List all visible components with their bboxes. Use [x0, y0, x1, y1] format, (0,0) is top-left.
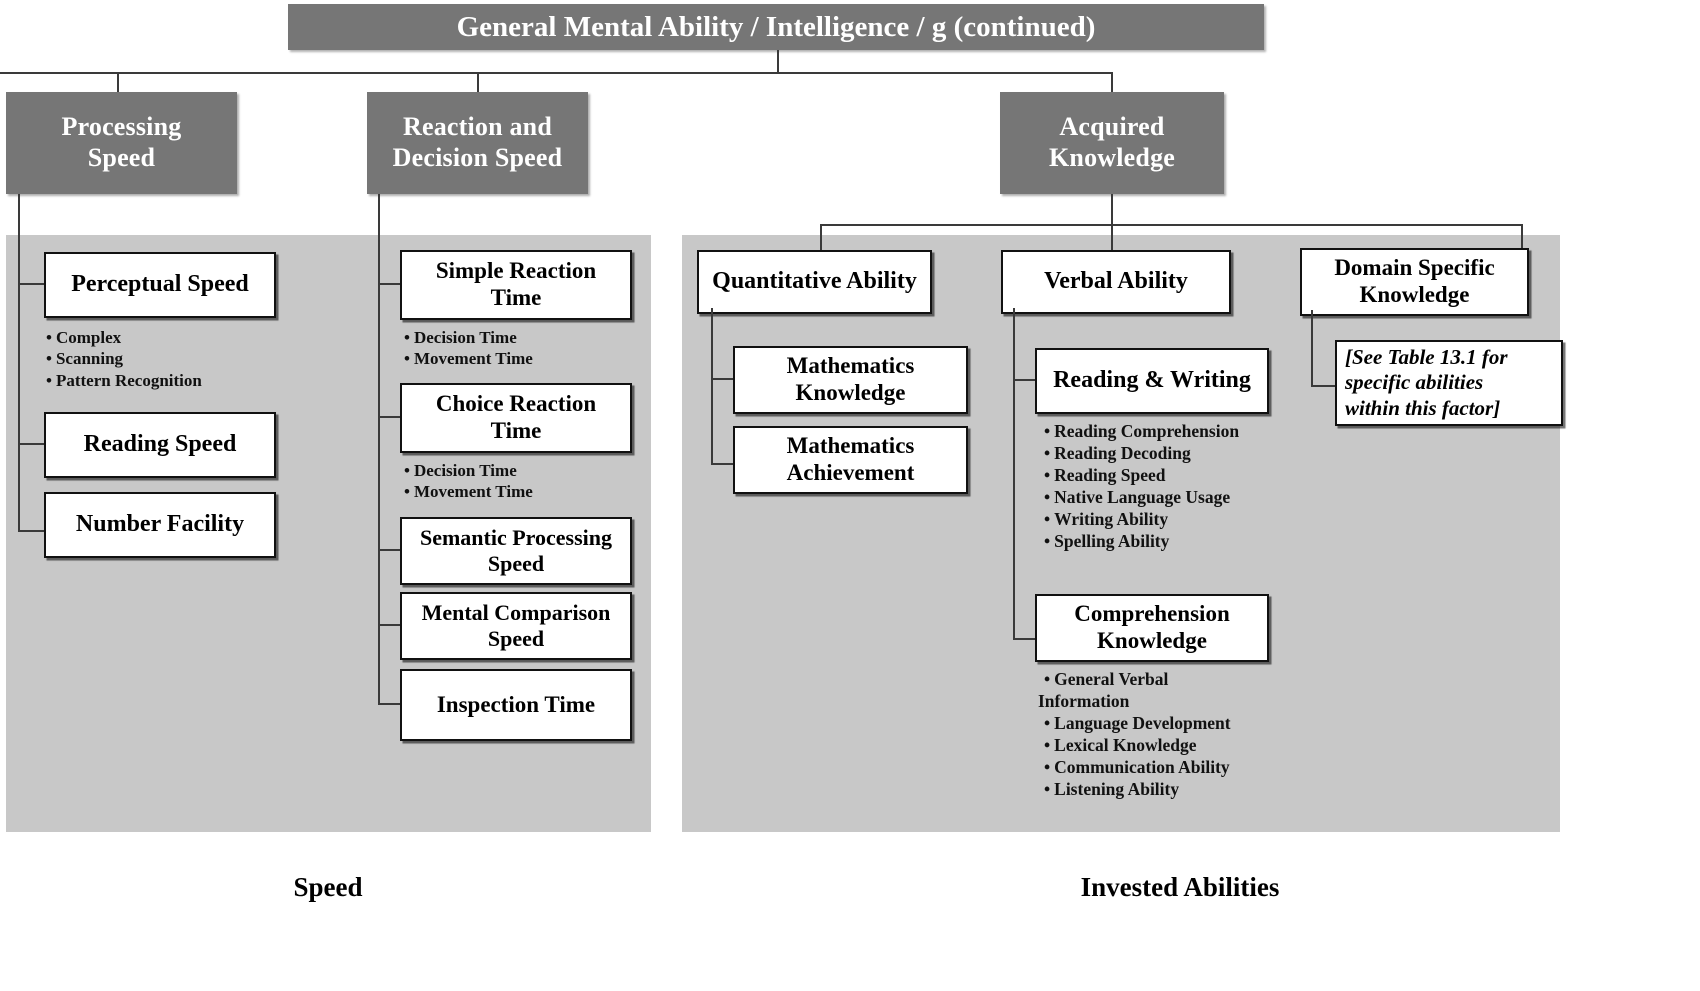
connector-spine-reaction-speed [378, 194, 380, 705]
connector-drop-reaction-speed [477, 72, 479, 92]
node-reading-speed[interactable]: Reading Speed [44, 412, 276, 478]
bottom-label-speed: Speed [228, 872, 428, 903]
node-number-facility[interactable]: Number Facility [44, 492, 276, 558]
connector-spine-quantitative-ability [711, 308, 713, 465]
node-simple-reaction-time-line1: Simple Reaction [436, 258, 596, 285]
header-processing-speed-line1: Processing [62, 112, 182, 143]
bullets-reading-writing: Reading Comprehension Reading Decoding R… [1044, 420, 1344, 552]
bullets-perceptual-speed: Complex Scanning Pattern Recognition [46, 327, 296, 391]
connector-elbow-reading-writing [1013, 379, 1037, 381]
header-processing-speed: Processing Speed [6, 92, 237, 194]
bullet-item: Movement Time [404, 348, 644, 369]
node-inspection-time-label: Inspection Time [437, 692, 595, 719]
header-reaction-decision-speed-line2: Decision Speed [393, 143, 563, 174]
connector-elbow-choice-reaction-time [378, 416, 402, 418]
bullet-item: Reading Decoding [1044, 442, 1344, 464]
bullet-item: Reading Speed [1044, 464, 1344, 486]
bullets-simple-reaction-time: Decision Time Movement Time [404, 327, 644, 370]
bullet-item: Decision Time [404, 327, 644, 348]
bullet-item: Pattern Recognition [46, 370, 296, 391]
node-mental-comparison-speed[interactable]: Mental Comparison Speed [400, 592, 632, 660]
diagram-canvas: General Mental Ability / Intelligence / … [0, 0, 1700, 991]
node-quantitative-ability-label: Quantitative Ability [712, 268, 917, 296]
node-mathematics-knowledge-line2: Knowledge [787, 380, 915, 407]
note-see-table-line2: specific abilities [1345, 370, 1508, 395]
connector-spine-domain-specific-knowledge [1311, 310, 1313, 387]
bullets-choice-reaction-time: Decision Time Movement Time [404, 460, 644, 503]
bullets-comprehension-knowledge: General Verbal Information Language Deve… [1044, 668, 1344, 800]
node-domain-specific-knowledge-line1: Domain Specific [1334, 255, 1494, 282]
header-reaction-decision-speed: Reaction and Decision Speed [367, 92, 588, 194]
node-comprehension-knowledge[interactable]: Comprehension Knowledge [1035, 594, 1269, 662]
node-mathematics-knowledge[interactable]: Mathematics Knowledge [733, 346, 968, 414]
bullet-item: Scanning [46, 348, 296, 369]
bullet-item: Communication Ability [1044, 756, 1344, 778]
bullet-item: Decision Time [404, 460, 644, 481]
connector-drop-quantitative-ability [820, 224, 822, 252]
bullet-item: Movement Time [404, 481, 644, 502]
node-quantitative-ability[interactable]: Quantitative Ability [697, 250, 932, 314]
header-acquired-knowledge: Acquired Knowledge [1000, 92, 1224, 194]
note-see-table-line3: within this factor] [1345, 396, 1508, 421]
node-mathematics-knowledge-line1: Mathematics [787, 353, 915, 380]
header-acquired-knowledge-line1: Acquired [1049, 112, 1175, 143]
node-perceptual-speed-label: Perceptual Speed [71, 271, 249, 299]
node-mathematics-achievement[interactable]: Mathematics Achievement [733, 426, 968, 494]
bullet-item-continuation: Information [1038, 690, 1344, 712]
connector-spine-processing-speed [18, 194, 20, 532]
bullet-item: General Verbal [1044, 668, 1344, 690]
node-comprehension-knowledge-line2: Knowledge [1074, 628, 1230, 655]
bullet-item: Complex [46, 327, 296, 348]
diagram-title-box: General Mental Ability / Intelligence / … [288, 4, 1264, 50]
node-choice-reaction-time-line1: Choice Reaction [436, 391, 596, 418]
node-domain-specific-knowledge[interactable]: Domain Specific Knowledge [1300, 248, 1529, 316]
connector-drop-acquired-knowledge [1111, 72, 1113, 92]
node-verbal-ability[interactable]: Verbal Ability [1001, 250, 1231, 314]
bullet-item: Lexical Knowledge [1044, 734, 1344, 756]
connector-elbow-number-facility [18, 530, 46, 532]
node-mathematics-achievement-line2: Achievement [787, 460, 915, 487]
connector-stem-acquired-knowledge [1111, 194, 1113, 225]
connector-spine-verbal-ability [1013, 308, 1015, 640]
connector-elbow-semantic-processing-speed [378, 549, 402, 551]
node-mental-comparison-speed-line2: Speed [422, 626, 611, 652]
node-choice-reaction-time[interactable]: Choice Reaction Time [400, 383, 632, 453]
connector-elbow-reading-speed [18, 443, 46, 445]
node-inspection-time[interactable]: Inspection Time [400, 669, 632, 741]
bullet-item: Native Language Usage [1044, 486, 1344, 508]
connector-elbow-comprehension-knowledge [1013, 638, 1037, 640]
connector-bus-acquired-knowledge [820, 224, 1523, 226]
page-title: General Mental Ability / Intelligence / … [457, 11, 1096, 44]
connector-elbow-inspection-time [378, 703, 402, 705]
connector-drop-processing-speed [117, 72, 119, 92]
node-semantic-processing-speed-line1: Semantic Processing [420, 525, 612, 551]
connector-elbow-simple-reaction-time [378, 283, 402, 285]
note-see-table-line1: [See Table 13.1 for [1345, 345, 1508, 370]
header-acquired-knowledge-line2: Knowledge [1049, 143, 1175, 174]
note-see-table: [See Table 13.1 for specific abilities w… [1335, 340, 1563, 426]
connector-elbow-table-note [1311, 385, 1337, 387]
node-number-facility-label: Number Facility [76, 511, 244, 539]
node-reading-speed-label: Reading Speed [84, 431, 237, 459]
header-processing-speed-line2: Speed [62, 143, 182, 174]
node-reading-writing-label: Reading & Writing [1053, 367, 1251, 395]
bullet-item: Language Development [1044, 712, 1344, 734]
node-perceptual-speed[interactable]: Perceptual Speed [44, 252, 276, 318]
node-reading-writing[interactable]: Reading & Writing [1035, 348, 1269, 414]
connector-elbow-perceptual-speed [18, 283, 46, 285]
bullet-item: Reading Comprehension [1044, 420, 1344, 442]
bullet-item: Listening Ability [1044, 778, 1344, 800]
node-comprehension-knowledge-line1: Comprehension [1074, 601, 1230, 628]
node-choice-reaction-time-line2: Time [436, 418, 596, 445]
header-reaction-decision-speed-line1: Reaction and [393, 112, 563, 143]
node-mathematics-achievement-line1: Mathematics [787, 433, 915, 460]
node-simple-reaction-time-line2: Time [436, 285, 596, 312]
bottom-label-invested-abilities: Invested Abilities [1015, 872, 1345, 903]
bullet-item: Spelling Ability [1044, 530, 1344, 552]
node-mental-comparison-speed-line1: Mental Comparison [422, 600, 611, 626]
node-simple-reaction-time[interactable]: Simple Reaction Time [400, 250, 632, 320]
bullet-item: Writing Ability [1044, 508, 1344, 530]
node-verbal-ability-label: Verbal Ability [1044, 268, 1188, 296]
connector-main-bus [0, 72, 1113, 74]
connector-title-stem [777, 50, 779, 74]
node-semantic-processing-speed[interactable]: Semantic Processing Speed [400, 517, 632, 585]
connector-drop-verbal-ability [1111, 224, 1113, 252]
node-semantic-processing-speed-line2: Speed [420, 551, 612, 577]
connector-elbow-mental-comparison-speed [378, 624, 402, 626]
node-domain-specific-knowledge-line2: Knowledge [1334, 282, 1494, 309]
